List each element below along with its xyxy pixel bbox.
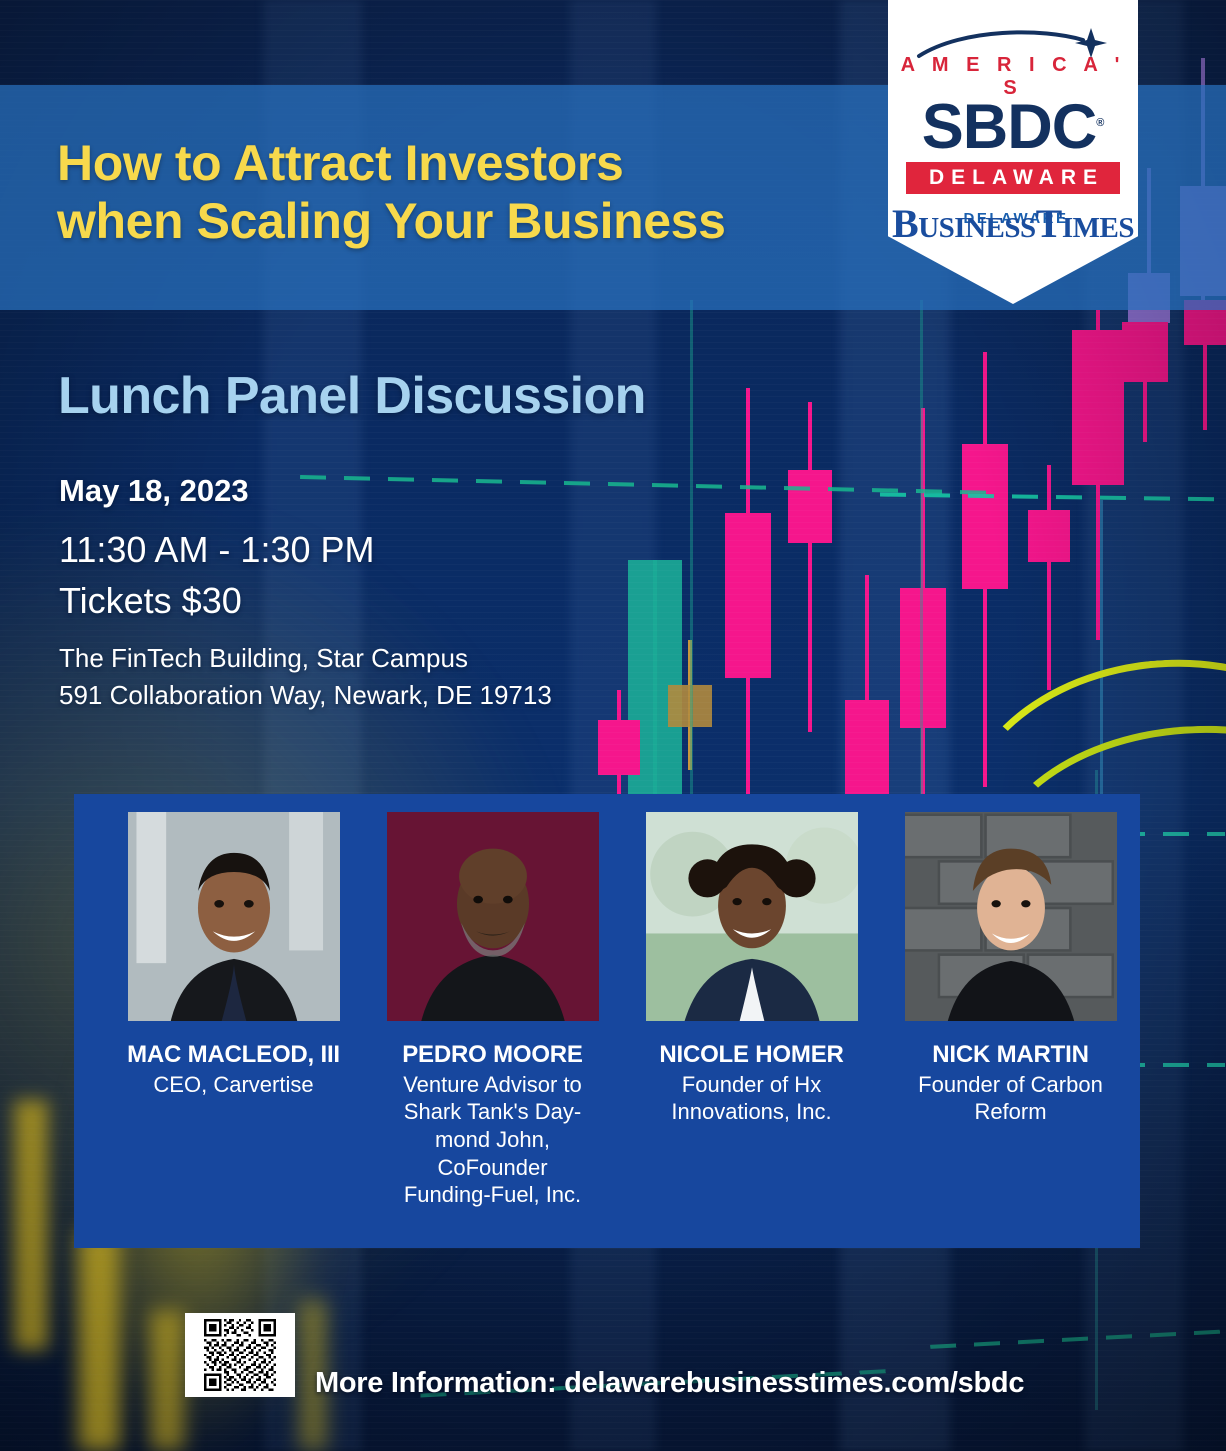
logo-acronym: SBDC® <box>888 98 1138 158</box>
speakers-panel: MAC MACLEOD, III CEO, Carvertise <box>74 794 1140 1248</box>
logo-partner-name: BUSINESSTIMES <box>888 207 1138 241</box>
speaker-card: MAC MACLEOD, III CEO, Carvertise <box>104 812 363 1209</box>
partner-b: B <box>892 201 918 246</box>
headshot-photo <box>646 812 858 1021</box>
speaker-role: Venture Advisor to Shark Tank's Day-mond… <box>363 1071 622 1210</box>
headline-line-1: How to Attract Investors <box>57 135 847 193</box>
headline-line-2: when Scaling Your Business <box>57 193 847 251</box>
logo-state-band: DELAWARE <box>906 162 1120 194</box>
speaker-name: NICOLE HOMER <box>622 1041 881 1069</box>
speaker-card: PEDRO MOORE Venture Advisor to Shark Tan… <box>363 812 622 1209</box>
event-flyer: How to Attract Investors when Scaling Yo… <box>0 0 1226 1451</box>
event-time-and-price: 11:30 AM - 1:30 PM Tickets $30 <box>59 524 375 626</box>
event-subtitle: Lunch Panel Discussion <box>58 366 646 426</box>
speaker-name: MAC MACLEOD, III <box>104 1041 363 1069</box>
headshot-photo <box>905 812 1117 1021</box>
headshot-photo <box>387 812 599 1021</box>
logo-acronym-text: SBDC <box>922 92 1097 162</box>
event-date: May 18, 2023 <box>59 473 249 509</box>
qr-code[interactable] <box>185 1313 295 1397</box>
speaker-name: NICK MARTIN <box>881 1041 1140 1069</box>
speaker-role: CEO, Carvertise <box>104 1071 363 1099</box>
speaker-card: NICK MARTIN Founder of Carbon Reform <box>881 812 1140 1209</box>
speaker-role: Founder of Carbon Reform <box>881 1071 1140 1126</box>
partner-t: T <box>1036 201 1062 246</box>
partner-usiness: USINESS <box>918 212 1035 244</box>
page-title: How to Attract Investors when Scaling Yo… <box>57 135 847 250</box>
headshot-photo <box>128 812 340 1021</box>
speaker-role: Founder of Hx Innovations, Inc. <box>622 1071 881 1126</box>
more-information-text: More Information: delawarebusinesstimes.… <box>315 1367 1024 1400</box>
speaker-card: NICOLE HOMER Founder of Hx Innovations, … <box>622 812 881 1209</box>
swoosh-arc-icon <box>888 26 1138 60</box>
venue-address: 591 Collaboration Way, Newark, DE 19713 <box>59 677 552 714</box>
partner-imes: IMES <box>1062 212 1134 244</box>
speaker-name: PEDRO MOORE <box>363 1041 622 1069</box>
event-ticket-price: Tickets $30 <box>59 575 375 626</box>
speakers-grid: MAC MACLEOD, III CEO, Carvertise <box>74 794 1140 1209</box>
event-time: 11:30 AM - 1:30 PM <box>59 524 375 575</box>
event-venue: The FinTech Building, Star Campus 591 Co… <box>59 640 552 714</box>
registered-trademark-icon: ® <box>1096 117 1104 129</box>
venue-name: The FinTech Building, Star Campus <box>59 640 552 677</box>
